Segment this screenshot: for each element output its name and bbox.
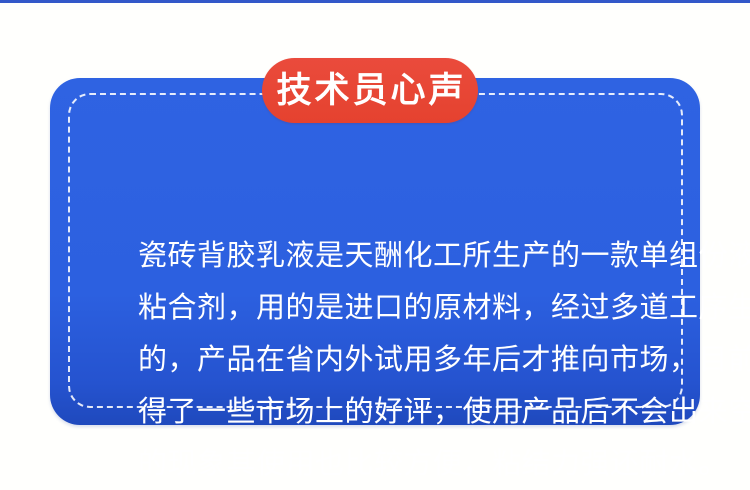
- body-line-2: 粘合剂，用的是进口的原材料，经过多道工序生产面出: [138, 282, 714, 334]
- body-line-2-text: 粘合剂，用的是进口的原材料，经过多道工序生产面出: [138, 282, 750, 334]
- section-title-badge: 技术员心声: [262, 58, 478, 123]
- body-line-3-text: 的，产品在省内外试用多年后才推向市场，目前产品获: [138, 334, 750, 386]
- body-line-3: 的，产品在省内外试用多年后才推向市场，目前产品获: [138, 334, 714, 386]
- body-line-4-text: 得了一些市场上的好评，使用产品后不会出来空鼓脱落: [138, 386, 750, 438]
- body-line-5-text: 的现象其使用也比较方便，粘结力强还耐水。: [138, 448, 728, 480]
- body-line-1: 瓷砖背胶乳液是天酬化工所生产的一款单组份液体瓷砖: [138, 230, 714, 282]
- body-line-1-text: 瓷砖背胶乳液是天酬化工所生产的一款单组份液体瓷砖: [138, 230, 750, 282]
- body-line-5: 的现象其使用也比较方便，粘结力强还耐水。: [138, 438, 714, 490]
- card-body-text: 瓷砖背胶乳液是天酬化工所生产的一款单组份液体瓷砖 粘合剂，用的是进口的原材料，经…: [138, 230, 714, 490]
- section-title-label: 技术员心声: [273, 73, 466, 108]
- top-divider-rule: [0, 0, 750, 3]
- technician-note-card: 瓷砖背胶乳液是天酬化工所生产的一款单组份液体瓷砖 粘合剂，用的是进口的原材料，经…: [50, 78, 700, 425]
- body-line-4: 得了一些市场上的好评，使用产品后不会出来空鼓脱落: [138, 386, 714, 438]
